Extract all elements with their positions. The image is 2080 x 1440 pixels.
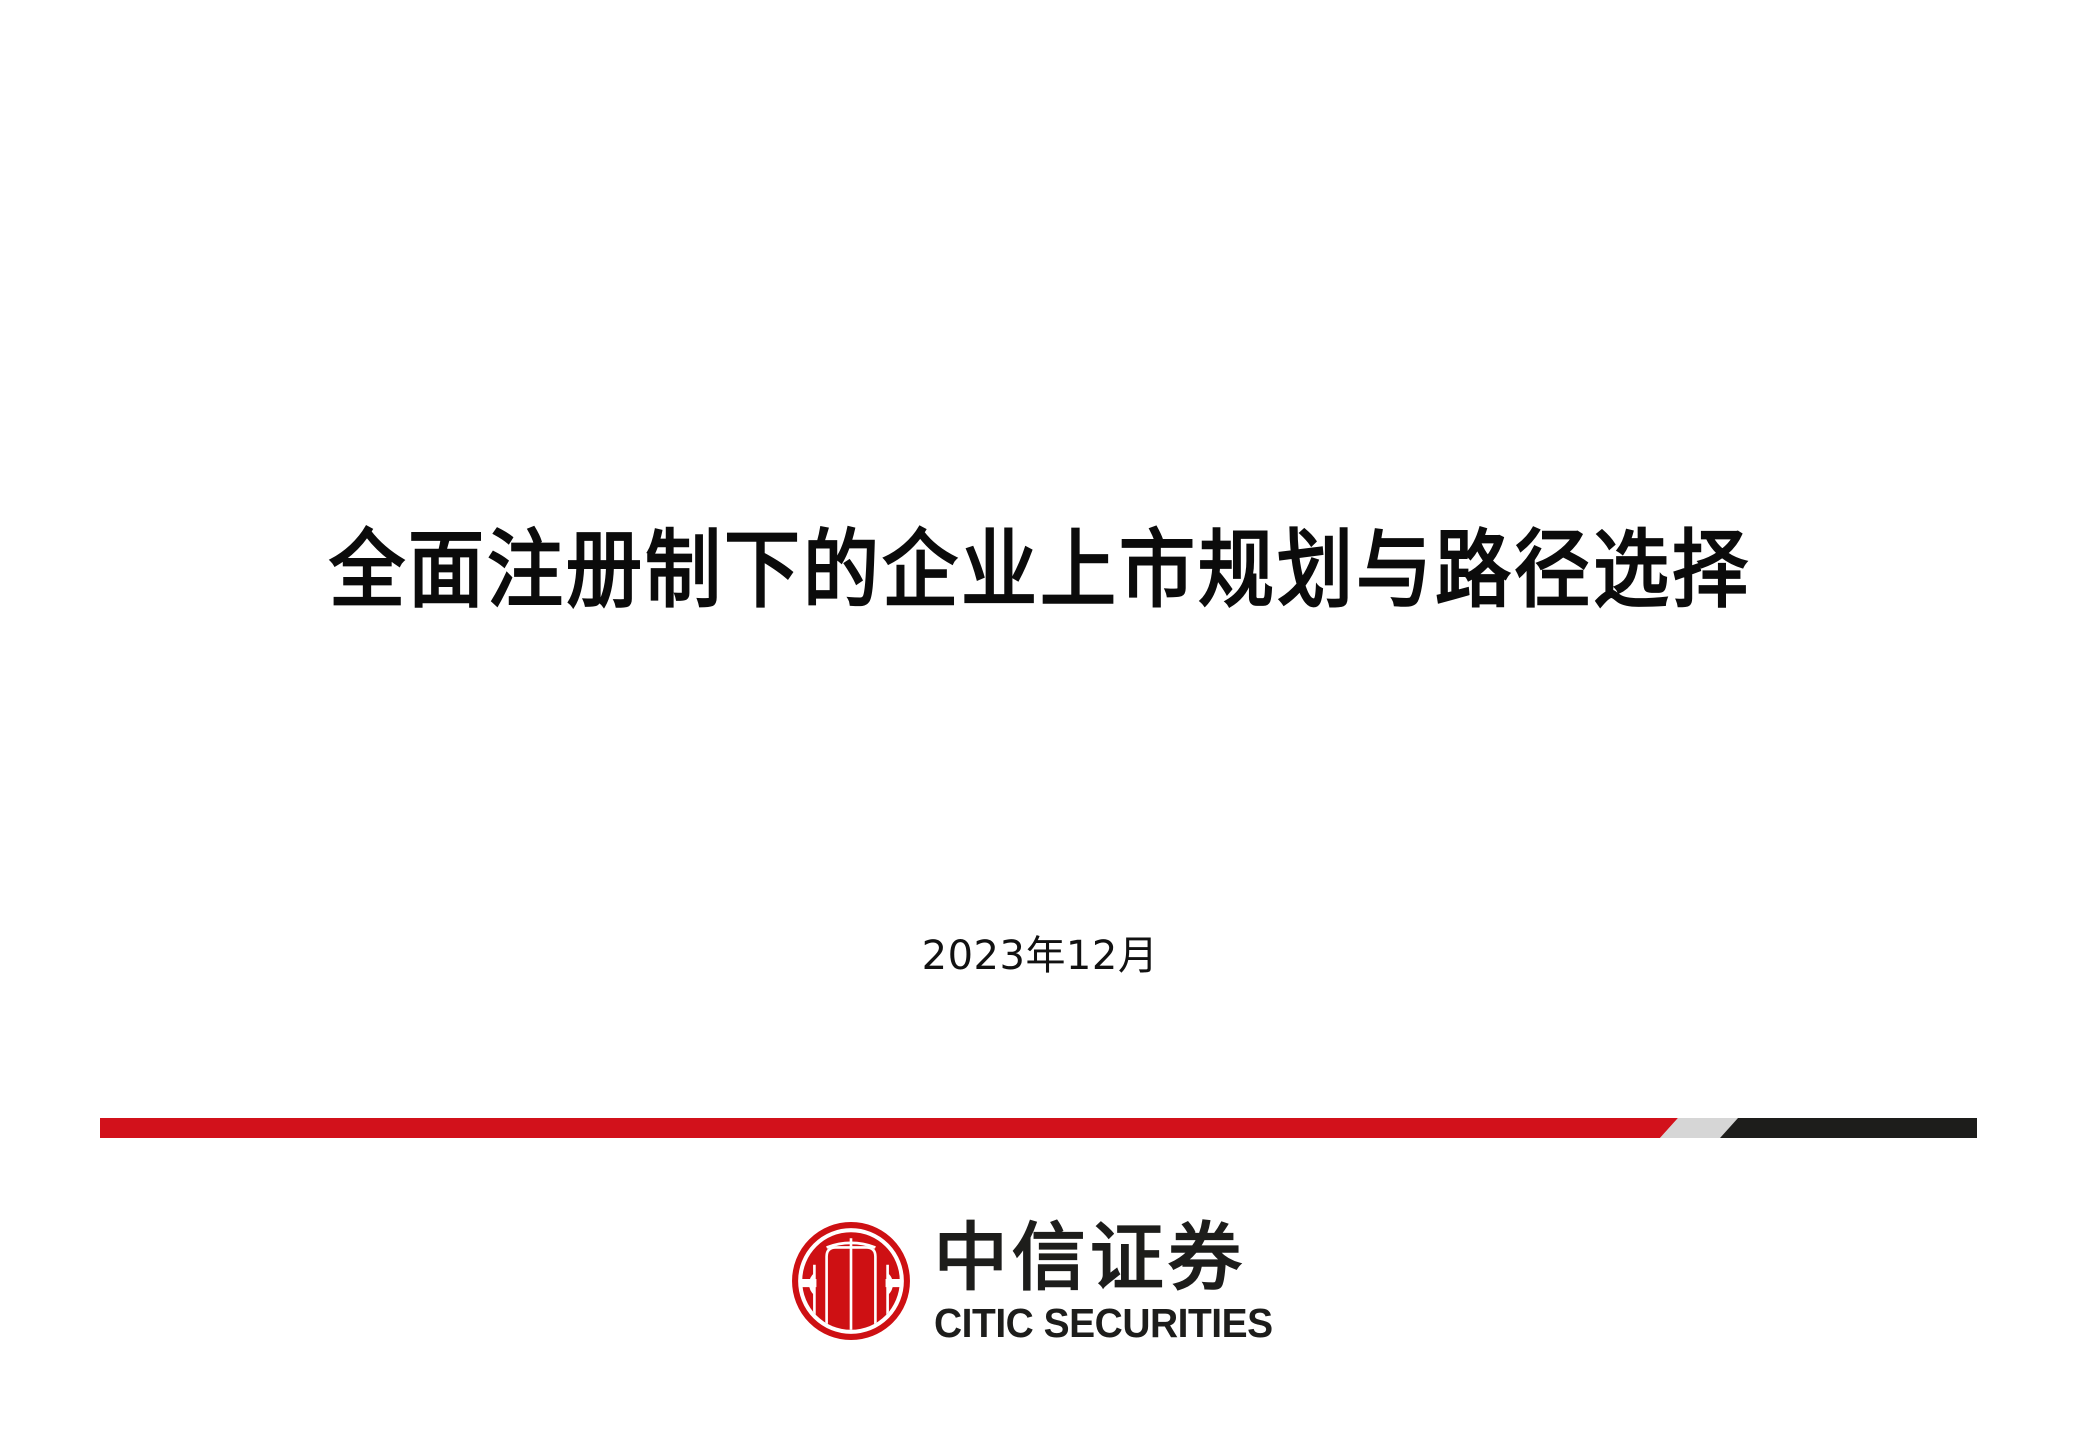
divider-dark-segment [1720,1118,1977,1138]
title-block: 全面注册制下的企业上市规划与路径选择 [0,520,2080,610]
presentation-date: 2023年12月 [0,932,2080,980]
tri-color-accent-bar [100,1118,1980,1138]
brand-name-english: CITIC SECURITIES [934,1302,1273,1345]
citic-circle-logo-icon [790,1220,912,1342]
title-slide: 全面注册制下的企业上市规划与路径选择 2023年12月 [0,0,2080,1440]
date-block: 2023年12月 [0,932,2080,980]
brand-name-chinese: 中信证券 [934,1222,1290,1295]
divider-red-segment [100,1118,1678,1138]
page-title: 全面注册制下的企业上市规划与路径选择 [0,520,2080,620]
brand-wordmark: 中信证券 CITIC SECURITIES [934,1218,1290,1345]
brand-logo: 中信证券 CITIC SECURITIES [0,1218,2080,1345]
